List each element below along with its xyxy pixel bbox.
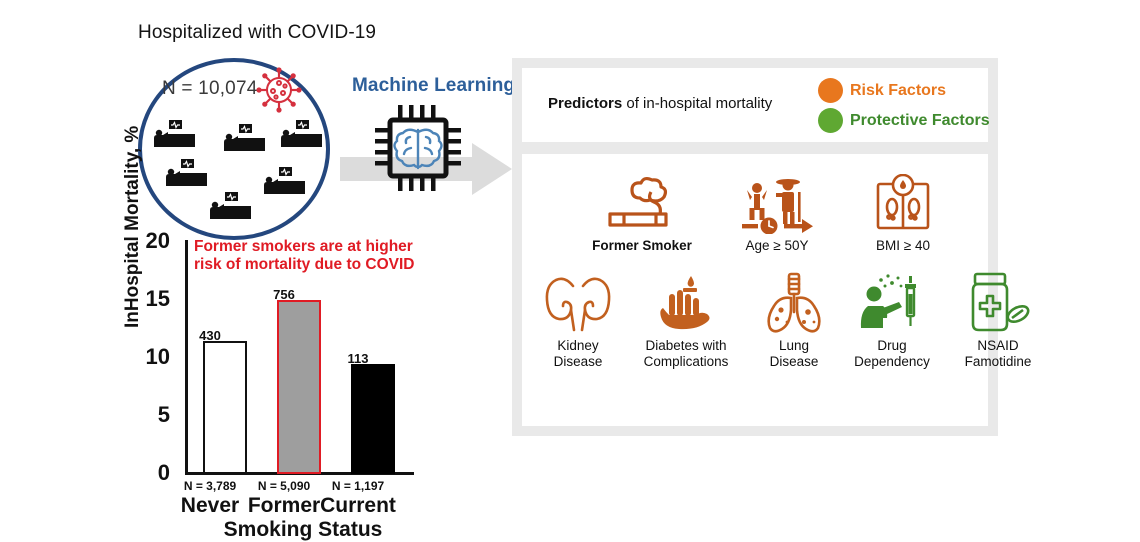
ai-chip-brain-icon — [370, 100, 466, 196]
factor-label-nsaid-famotidine: NSAID Famotidine — [942, 338, 1054, 370]
cohort-sample-size: N = 10,074 — [162, 78, 258, 100]
factor-nsaid-famotidine: NSAID Famotidine — [942, 272, 1054, 370]
kidney-icon — [543, 272, 613, 334]
x-category-current: Current — [317, 494, 399, 518]
weight-scale-icon — [872, 174, 934, 234]
legend-label-protective: Protective Factors — [850, 112, 990, 130]
count-former: N = 5,090 — [245, 479, 323, 493]
patient-bed-icon — [208, 190, 254, 220]
kidney-icon-box — [532, 272, 624, 334]
predictors-heading-bold: Predictors — [548, 95, 622, 112]
risk-factor-dot-icon — [818, 78, 843, 103]
factor-label-lung-disease: Lung Disease — [748, 338, 840, 370]
patient-bed-icon — [152, 118, 198, 148]
bar-former — [277, 300, 321, 474]
patient-bed-icon — [262, 165, 308, 195]
bar-value-former: 756 — [262, 287, 306, 302]
x-category-never: Never — [169, 494, 251, 518]
aging-clock-icon-box — [712, 172, 842, 234]
predictors-heading: Predictors of in-hospital mortality — [548, 95, 772, 112]
factor-label-diabetes: Diabetes with Complications — [622, 338, 750, 370]
drug-syringe-icon-box — [836, 272, 948, 334]
x-category-former: Former — [243, 494, 325, 518]
y-tick-15: 15 — [130, 288, 170, 310]
patient-bed-icon — [164, 157, 210, 187]
factor-lung-disease: Lung Disease — [748, 272, 840, 370]
protective-factor-dot-icon — [818, 108, 843, 133]
factor-label-age: Age ≥ 50Y — [712, 238, 842, 254]
diabetes-hand-icon-box — [622, 272, 750, 334]
legend-risk-factors: Risk Factors — [818, 78, 946, 103]
count-never: N = 3,789 — [171, 479, 249, 493]
predictors-heading-rest: of in-hospital mortality — [622, 95, 772, 112]
bar-value-never: 430 — [188, 328, 232, 343]
bar-current — [351, 364, 395, 474]
cigarette-icon — [604, 174, 680, 234]
mortality-bar-chart: InHospital Mortality, % 20 15 10 5 0 For… — [128, 236, 428, 536]
cohort-title: Hospitalized with COVID-19 — [138, 22, 376, 44]
aging-clock-icon — [740, 174, 814, 234]
weight-scale-icon-box — [838, 172, 968, 234]
factor-label-bmi: BMI ≥ 40 — [838, 238, 968, 254]
factor-kidney-disease: Kidney Disease — [532, 272, 624, 370]
y-tick-0: 0 — [130, 462, 170, 484]
drug-syringe-icon — [857, 272, 927, 334]
count-current: N = 1,197 — [319, 479, 397, 493]
pill-bottle-icon — [961, 272, 1035, 334]
factor-drug-dependency: Drug Dependency — [836, 272, 948, 370]
coronavirus-icon — [255, 66, 303, 114]
factor-age: Age ≥ 50Y — [712, 172, 842, 254]
bar-value-current: 113 — [336, 351, 380, 366]
factor-bmi: BMI ≥ 40 — [838, 172, 968, 254]
chart-x-axis-label: Smoking Status — [188, 518, 418, 542]
diabetes-hand-icon — [655, 272, 717, 334]
machine-learning-title: Machine Learning — [352, 75, 515, 97]
y-tick-20: 20 — [130, 230, 170, 252]
cigarette-icon-box — [572, 172, 712, 234]
y-tick-10: 10 — [130, 346, 170, 368]
legend-label-risk: Risk Factors — [850, 82, 946, 100]
lungs-icon — [758, 272, 830, 334]
y-tick-5: 5 — [130, 404, 170, 426]
factor-former-smoker: Former Smoker — [572, 172, 712, 254]
factor-label-kidney-disease: Kidney Disease — [532, 338, 624, 370]
predictors-header-card: Predictors of in-hospital mortality Risk… — [522, 68, 988, 142]
patient-bed-icon — [279, 118, 325, 148]
pill-bottle-icon-box — [942, 272, 1054, 334]
factor-label-former-smoker: Former Smoker — [572, 238, 712, 254]
factor-label-drug-dependency: Drug Dependency — [836, 338, 948, 370]
predictors-panel: Predictors of in-hospital mortality Risk… — [512, 58, 998, 436]
factor-diabetes: Diabetes with Complications — [622, 272, 750, 370]
predictors-icon-grid: Former Smoker — [522, 154, 988, 426]
legend-protective-factors: Protective Factors — [818, 108, 990, 133]
lungs-icon-box — [748, 272, 840, 334]
bar-never — [203, 341, 247, 474]
patient-bed-icon — [222, 122, 268, 152]
